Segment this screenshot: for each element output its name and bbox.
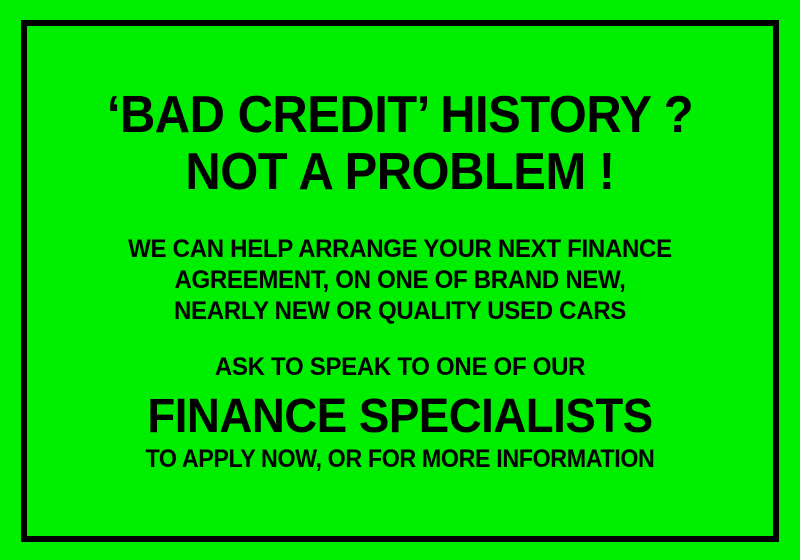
footer-apply-now: TO APPLY NOW, OR FOR MORE INFORMATION	[53, 447, 747, 472]
advertisement-poster: ‘BAD CREDIT’ HISTORY ? NOT A PROBLEM ! W…	[0, 0, 800, 560]
headline-bad-credit-history: ‘BAD CREDIT’ HISTORY ?	[49, 89, 750, 141]
body-paragraph: WE CAN HELP ARRANGE YOUR NEXT FINANCE AG…	[27, 237, 773, 330]
body-line-3: NEARLY NEW OR QUALITY USED CARS	[42, 299, 758, 324]
body-line-1: WE CAN HELP ARRANGE YOUR NEXT FINANCE	[42, 237, 758, 262]
feature-finance-specialists: FINANCE SPECIALISTS	[46, 393, 755, 441]
call-to-action-ask-to-speak: ASK TO SPEAK TO ONE OF OUR	[42, 355, 758, 380]
body-line-2: AGREEMENT, ON ONE OF BRAND NEW,	[42, 268, 758, 293]
poster-content: ‘BAD CREDIT’ HISTORY ? NOT A PROBLEM ! W…	[27, 26, 773, 536]
headline-not-a-problem: NOT A PROBLEM !	[49, 146, 750, 198]
